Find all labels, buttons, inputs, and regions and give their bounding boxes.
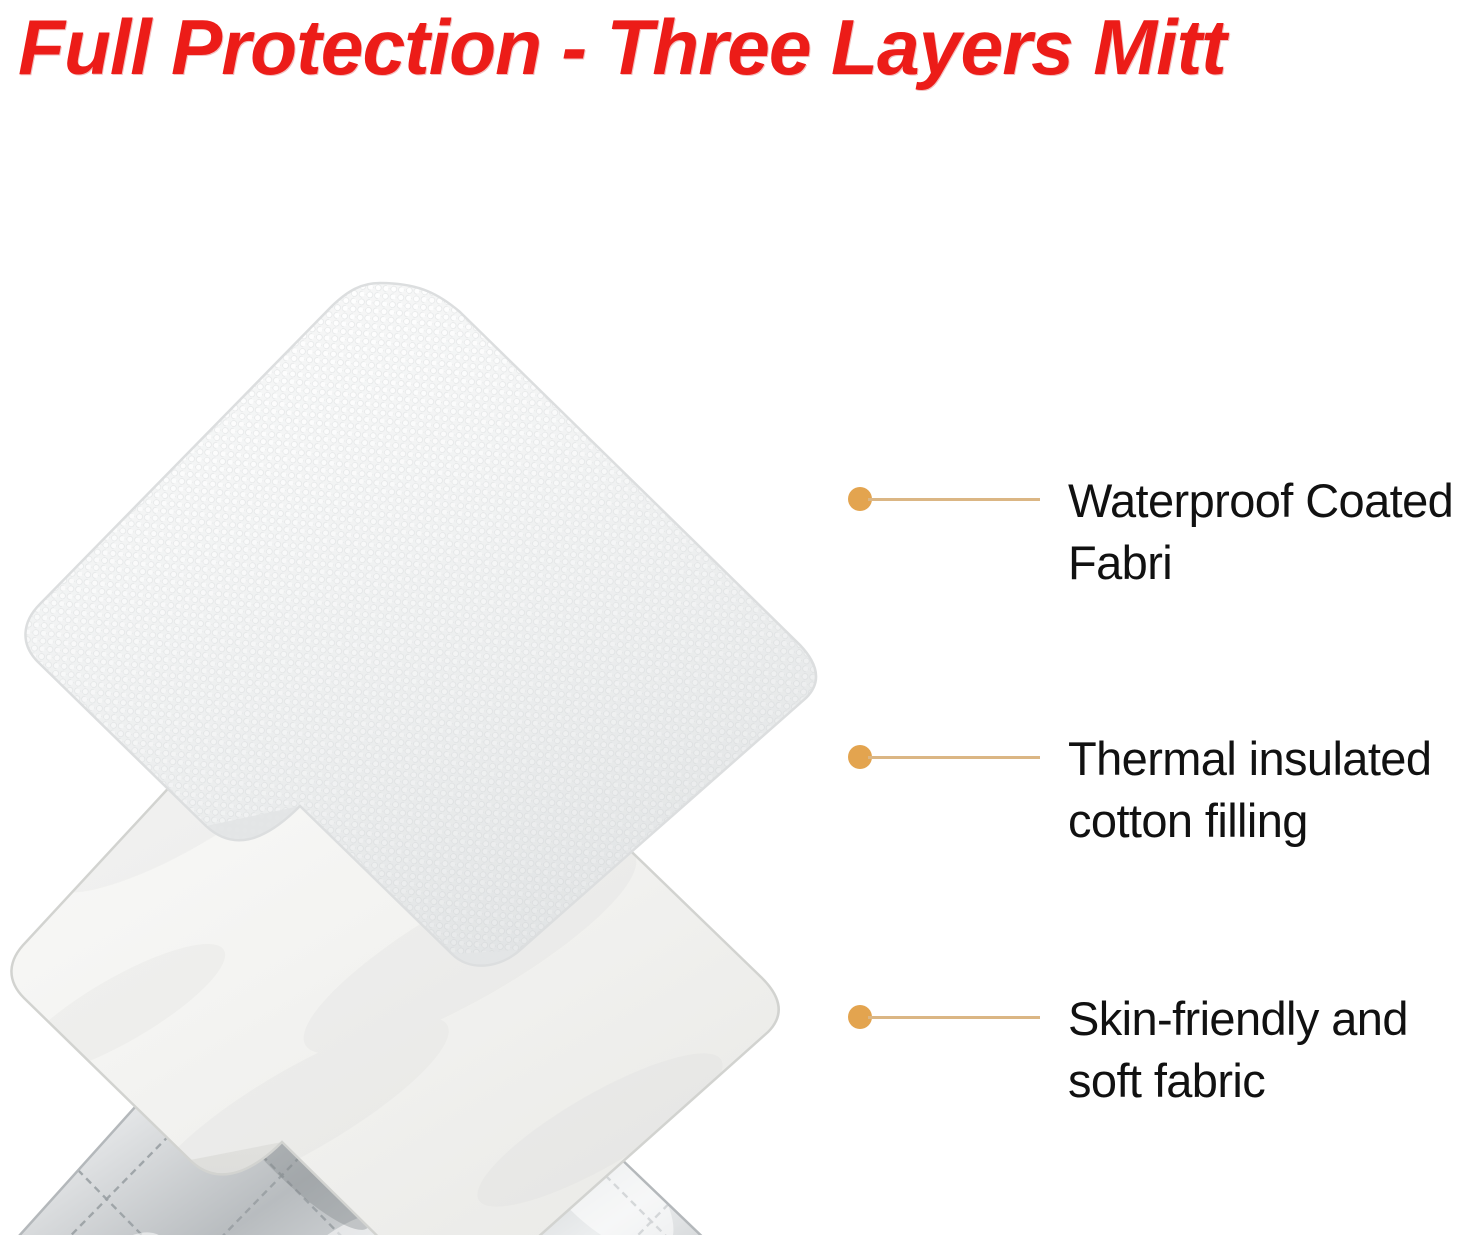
- callout-label-line-1: Thermal insulated: [1068, 728, 1431, 790]
- callout-skin-friendly-soft-fabric: Skin-friendly and soft fabric: [848, 988, 1408, 1112]
- callout-label: Thermal insulated cotton filling: [1068, 728, 1431, 852]
- callout-label-line-2: Fabri: [1068, 532, 1453, 594]
- callout-line-icon: [868, 498, 1040, 501]
- callout-line-icon: [868, 1016, 1040, 1019]
- callout-label-line-2: soft fabric: [1068, 1050, 1408, 1112]
- callout-label-line-2: cotton filling: [1068, 790, 1431, 852]
- callout-line-icon: [868, 756, 1040, 759]
- product-infographic: Full Protection - Three Layers Mitt: [0, 0, 1483, 1235]
- callout-thermal-insulated-cotton: Thermal insulated cotton filling: [848, 728, 1431, 852]
- callout-label-line-1: Waterproof Coated: [1068, 470, 1453, 532]
- callout-connector: [848, 728, 1040, 784]
- callout-connector: [848, 470, 1040, 526]
- exploded-layers-graphic: [0, 250, 860, 1235]
- page-title: Full Protection - Three Layers Mitt: [18, 2, 1436, 94]
- callout-connector: [848, 988, 1040, 1044]
- callout-waterproof-coated-fabric: Waterproof Coated Fabri: [848, 470, 1453, 594]
- callout-label: Skin-friendly and soft fabric: [1068, 988, 1408, 1112]
- layer-stack-illustration: [0, 250, 860, 1235]
- callout-label: Waterproof Coated Fabri: [1068, 470, 1453, 594]
- callout-label-line-1: Skin-friendly and: [1068, 988, 1408, 1050]
